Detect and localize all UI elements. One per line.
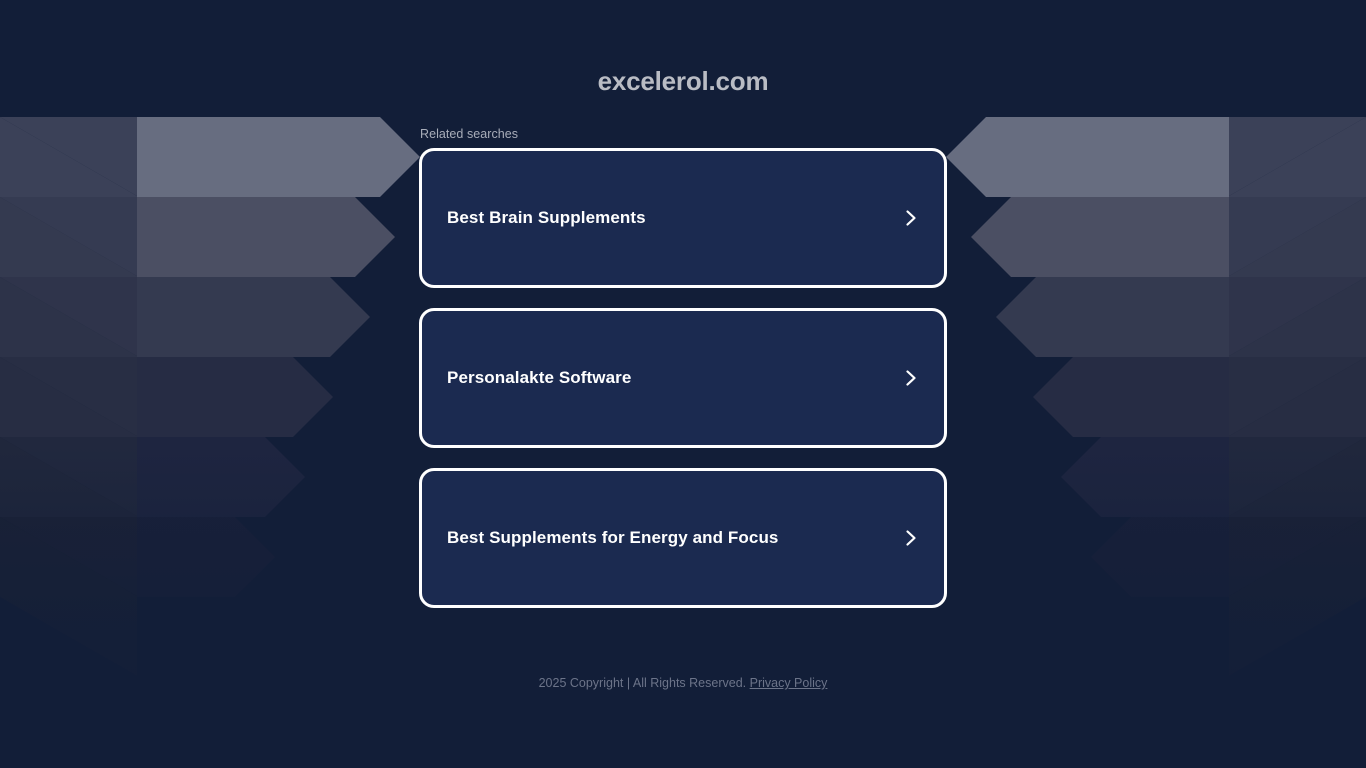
page-title: excelerol.com [0,66,1366,97]
list-item[interactable]: Best Brain Supplements [419,148,947,288]
chevron-right-icon [901,368,921,388]
list-item-label: Best Brain Supplements [447,208,646,228]
related-searches-label: Related searches [420,127,518,141]
list-item-label: Best Supplements for Energy and Focus [447,528,778,548]
related-searches-list: Best Brain Supplements Personalakte Soft… [419,148,947,628]
page-root: excelerol.com Related searches Best Brai… [0,0,1366,768]
footer-copyright: 2025 Copyright | All Rights Reserved. [539,676,747,690]
footer: 2025 Copyright | All Rights Reserved. Pr… [0,676,1366,690]
list-item[interactable]: Personalakte Software [419,308,947,448]
privacy-policy-link[interactable]: Privacy Policy [750,676,828,690]
chevron-right-icon [901,208,921,228]
list-item-label: Personalakte Software [447,368,631,388]
chevron-right-icon [901,528,921,548]
list-item[interactable]: Best Supplements for Energy and Focus [419,468,947,608]
